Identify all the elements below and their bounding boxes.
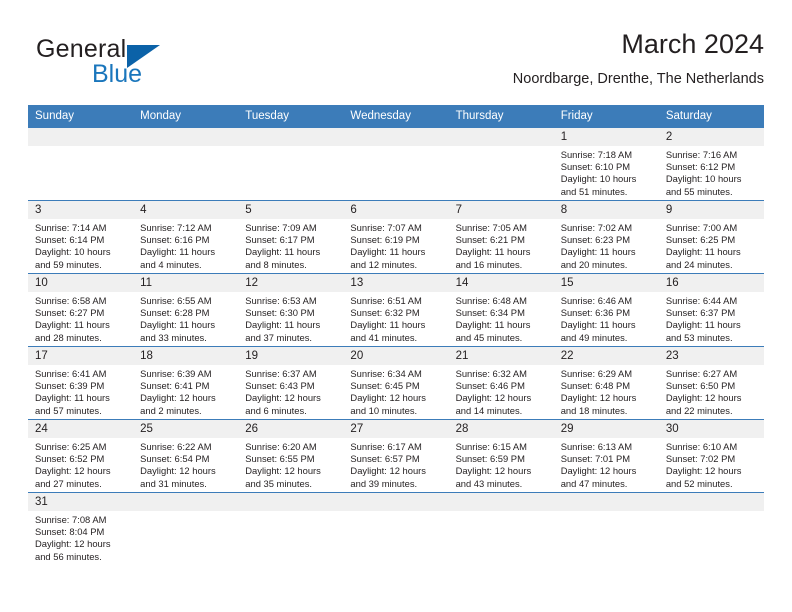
daylight-text-line2: and 35 minutes. bbox=[245, 478, 339, 490]
daylight-text-line1: Daylight: 11 hours bbox=[666, 246, 760, 258]
sunset-text: Sunset: 6:10 PM bbox=[561, 161, 655, 173]
calendar-day-cell[interactable]: 15Sunrise: 6:46 AMSunset: 6:36 PMDayligh… bbox=[554, 274, 659, 347]
sunrise-text: Sunrise: 6:39 AM bbox=[140, 368, 234, 380]
daylight-text-line1: Daylight: 11 hours bbox=[666, 319, 760, 331]
daylight-text-line1: Daylight: 11 hours bbox=[456, 246, 550, 258]
day-details: Sunrise: 6:20 AMSunset: 6:55 PMDaylight:… bbox=[238, 438, 343, 490]
calendar-cell-empty bbox=[133, 493, 238, 566]
calendar-day-cell[interactable]: 31Sunrise: 7:08 AMSunset: 8:04 PMDayligh… bbox=[28, 493, 133, 566]
calendar-day-cell[interactable]: 21Sunrise: 6:32 AMSunset: 6:46 PMDayligh… bbox=[449, 347, 554, 420]
sunrise-text: Sunrise: 6:44 AM bbox=[666, 295, 760, 307]
daylight-text-line2: and 56 minutes. bbox=[35, 551, 129, 563]
daylight-text-line2: and 6 minutes. bbox=[245, 405, 339, 417]
day-number: 19 bbox=[238, 347, 343, 365]
sunset-text: Sunset: 8:04 PM bbox=[35, 526, 129, 538]
sunset-text: Sunset: 6:23 PM bbox=[561, 234, 655, 246]
daylight-text-line1: Daylight: 11 hours bbox=[140, 246, 234, 258]
calendar-week-row: 17Sunrise: 6:41 AMSunset: 6:39 PMDayligh… bbox=[28, 347, 764, 420]
daylight-text-line2: and 41 minutes. bbox=[350, 332, 444, 344]
weekday-header-monday: Monday bbox=[133, 105, 238, 128]
day-details: Sunrise: 7:02 AMSunset: 6:23 PMDaylight:… bbox=[554, 219, 659, 271]
sunset-text: Sunset: 6:55 PM bbox=[245, 453, 339, 465]
sunset-text: Sunset: 6:14 PM bbox=[35, 234, 129, 246]
daylight-text-line1: Daylight: 12 hours bbox=[140, 465, 234, 477]
sunset-text: Sunset: 6:48 PM bbox=[561, 380, 655, 392]
daylight-text-line1: Daylight: 12 hours bbox=[666, 465, 760, 477]
sunrise-text: Sunrise: 6:15 AM bbox=[456, 441, 550, 453]
daylight-text-line2: and 10 minutes. bbox=[350, 405, 444, 417]
calendar-day-cell[interactable]: 12Sunrise: 6:53 AMSunset: 6:30 PMDayligh… bbox=[238, 274, 343, 347]
day-details: Sunrise: 6:48 AMSunset: 6:34 PMDaylight:… bbox=[449, 292, 554, 344]
daylight-text-line2: and 2 minutes. bbox=[140, 405, 234, 417]
daylight-text-line2: and 12 minutes. bbox=[350, 259, 444, 271]
daylight-text-line1: Daylight: 11 hours bbox=[35, 392, 129, 404]
day-details: Sunrise: 6:53 AMSunset: 6:30 PMDaylight:… bbox=[238, 292, 343, 344]
day-number: 7 bbox=[449, 201, 554, 219]
daylight-text-line2: and 43 minutes. bbox=[456, 478, 550, 490]
daylight-text-line2: and 24 minutes. bbox=[666, 259, 760, 271]
daylight-text-line1: Daylight: 12 hours bbox=[35, 465, 129, 477]
day-number: 1 bbox=[554, 128, 659, 146]
calendar-day-cell[interactable]: 25Sunrise: 6:22 AMSunset: 6:54 PMDayligh… bbox=[133, 420, 238, 493]
daylight-text-line2: and 49 minutes. bbox=[561, 332, 655, 344]
weekday-header-tuesday: Tuesday bbox=[238, 105, 343, 128]
logo-text-blue: Blue bbox=[92, 60, 142, 89]
sunset-text: Sunset: 6:17 PM bbox=[245, 234, 339, 246]
day-number bbox=[449, 128, 554, 146]
day-number: 16 bbox=[659, 274, 764, 292]
day-number: 14 bbox=[449, 274, 554, 292]
calendar-day-cell[interactable]: 17Sunrise: 6:41 AMSunset: 6:39 PMDayligh… bbox=[28, 347, 133, 420]
sunset-text: Sunset: 6:21 PM bbox=[456, 234, 550, 246]
page-header: General Blue March 2024 Noordbarge, Dren… bbox=[28, 28, 764, 96]
daylight-text-line1: Daylight: 12 hours bbox=[245, 392, 339, 404]
daylight-text-line1: Daylight: 12 hours bbox=[456, 392, 550, 404]
sunset-text: Sunset: 6:57 PM bbox=[350, 453, 444, 465]
daylight-text-line2: and 4 minutes. bbox=[140, 259, 234, 271]
calendar-day-cell[interactable]: 26Sunrise: 6:20 AMSunset: 6:55 PMDayligh… bbox=[238, 420, 343, 493]
weekday-header-wednesday: Wednesday bbox=[343, 105, 448, 128]
day-number: 3 bbox=[28, 201, 133, 219]
daylight-text-line1: Daylight: 12 hours bbox=[561, 465, 655, 477]
sunrise-text: Sunrise: 6:34 AM bbox=[350, 368, 444, 380]
calendar-cell-empty bbox=[449, 128, 554, 201]
calendar-day-cell[interactable]: 1Sunrise: 7:18 AMSunset: 6:10 PMDaylight… bbox=[554, 128, 659, 201]
sunset-text: Sunset: 6:39 PM bbox=[35, 380, 129, 392]
day-number bbox=[133, 493, 238, 511]
day-number bbox=[449, 493, 554, 511]
sunrise-text: Sunrise: 6:58 AM bbox=[35, 295, 129, 307]
day-details: Sunrise: 7:07 AMSunset: 6:19 PMDaylight:… bbox=[343, 219, 448, 271]
sunrise-text: Sunrise: 6:13 AM bbox=[561, 441, 655, 453]
day-details: Sunrise: 6:37 AMSunset: 6:43 PMDaylight:… bbox=[238, 365, 343, 417]
daylight-text-line2: and 18 minutes. bbox=[561, 405, 655, 417]
calendar-cell-empty bbox=[238, 128, 343, 201]
day-number: 4 bbox=[133, 201, 238, 219]
day-details: Sunrise: 6:29 AMSunset: 6:48 PMDaylight:… bbox=[554, 365, 659, 417]
calendar-cell-empty bbox=[238, 493, 343, 566]
sunrise-text: Sunrise: 6:20 AM bbox=[245, 441, 339, 453]
day-number: 11 bbox=[133, 274, 238, 292]
calendar-day-cell[interactable]: 11Sunrise: 6:55 AMSunset: 6:28 PMDayligh… bbox=[133, 274, 238, 347]
calendar-day-cell[interactable]: 29Sunrise: 6:13 AMSunset: 7:01 PMDayligh… bbox=[554, 420, 659, 493]
calendar-day-cell[interactable]: 23Sunrise: 6:27 AMSunset: 6:50 PMDayligh… bbox=[659, 347, 764, 420]
sunset-text: Sunset: 6:25 PM bbox=[666, 234, 760, 246]
day-details: Sunrise: 6:51 AMSunset: 6:32 PMDaylight:… bbox=[343, 292, 448, 344]
day-details: Sunrise: 7:16 AMSunset: 6:12 PMDaylight:… bbox=[659, 146, 764, 198]
sunrise-text: Sunrise: 6:25 AM bbox=[35, 441, 129, 453]
sunset-text: Sunset: 6:19 PM bbox=[350, 234, 444, 246]
day-number: 2 bbox=[659, 128, 764, 146]
daylight-text-line2: and 14 minutes. bbox=[456, 405, 550, 417]
daylight-text-line1: Daylight: 11 hours bbox=[456, 319, 550, 331]
calendar-day-cell[interactable]: 19Sunrise: 6:37 AMSunset: 6:43 PMDayligh… bbox=[238, 347, 343, 420]
sunrise-text: Sunrise: 6:48 AM bbox=[456, 295, 550, 307]
daylight-text-line2: and 39 minutes. bbox=[350, 478, 444, 490]
sunset-text: Sunset: 6:34 PM bbox=[456, 307, 550, 319]
day-details: Sunrise: 7:09 AMSunset: 6:17 PMDaylight:… bbox=[238, 219, 343, 271]
calendar-day-cell[interactable]: 27Sunrise: 6:17 AMSunset: 6:57 PMDayligh… bbox=[343, 420, 448, 493]
calendar-day-cell[interactable]: 2Sunrise: 7:16 AMSunset: 6:12 PMDaylight… bbox=[659, 128, 764, 201]
day-details: Sunrise: 6:58 AMSunset: 6:27 PMDaylight:… bbox=[28, 292, 133, 344]
day-number: 8 bbox=[554, 201, 659, 219]
day-number: 25 bbox=[133, 420, 238, 438]
sunrise-text: Sunrise: 6:55 AM bbox=[140, 295, 234, 307]
title-block: March 2024 Noordbarge, Drenthe, The Neth… bbox=[513, 28, 764, 90]
day-details: Sunrise: 6:17 AMSunset: 6:57 PMDaylight:… bbox=[343, 438, 448, 490]
day-details: Sunrise: 6:25 AMSunset: 6:52 PMDaylight:… bbox=[28, 438, 133, 490]
day-details: Sunrise: 7:05 AMSunset: 6:21 PMDaylight:… bbox=[449, 219, 554, 271]
day-details: Sunrise: 7:00 AMSunset: 6:25 PMDaylight:… bbox=[659, 219, 764, 271]
sunrise-text: Sunrise: 7:08 AM bbox=[35, 514, 129, 526]
daylight-text-line1: Daylight: 11 hours bbox=[350, 319, 444, 331]
general-blue-logo[interactable]: General Blue bbox=[36, 35, 236, 93]
sunrise-text: Sunrise: 6:32 AM bbox=[456, 368, 550, 380]
sunset-text: Sunset: 6:27 PM bbox=[35, 307, 129, 319]
calendar-week-row: 3Sunrise: 7:14 AMSunset: 6:14 PMDaylight… bbox=[28, 201, 764, 274]
day-number: 12 bbox=[238, 274, 343, 292]
daylight-text-line1: Daylight: 12 hours bbox=[350, 392, 444, 404]
daylight-text-line2: and 33 minutes. bbox=[140, 332, 234, 344]
sunset-text: Sunset: 6:54 PM bbox=[140, 453, 234, 465]
day-number: 28 bbox=[449, 420, 554, 438]
daylight-text-line1: Daylight: 12 hours bbox=[35, 538, 129, 550]
weekday-header-thursday: Thursday bbox=[449, 105, 554, 128]
daylight-text-line2: and 20 minutes. bbox=[561, 259, 655, 271]
calendar-day-cell[interactable]: 20Sunrise: 6:34 AMSunset: 6:45 PMDayligh… bbox=[343, 347, 448, 420]
daylight-text-line1: Daylight: 11 hours bbox=[561, 246, 655, 258]
sunrise-text: Sunrise: 7:07 AM bbox=[350, 222, 444, 234]
daylight-text-line2: and 37 minutes. bbox=[245, 332, 339, 344]
daylight-text-line1: Daylight: 11 hours bbox=[140, 319, 234, 331]
sunrise-text: Sunrise: 6:46 AM bbox=[561, 295, 655, 307]
weekday-header-sunday: Sunday bbox=[28, 105, 133, 128]
sunrise-text: Sunrise: 7:09 AM bbox=[245, 222, 339, 234]
sunset-text: Sunset: 7:01 PM bbox=[561, 453, 655, 465]
calendar-cell-empty bbox=[343, 128, 448, 201]
day-number: 5 bbox=[238, 201, 343, 219]
sunset-text: Sunset: 6:59 PM bbox=[456, 453, 550, 465]
daylight-text-line2: and 27 minutes. bbox=[35, 478, 129, 490]
sunrise-text: Sunrise: 6:27 AM bbox=[666, 368, 760, 380]
day-number: 27 bbox=[343, 420, 448, 438]
day-number: 10 bbox=[28, 274, 133, 292]
day-number bbox=[133, 128, 238, 146]
sunset-text: Sunset: 6:28 PM bbox=[140, 307, 234, 319]
daylight-text-line2: and 31 minutes. bbox=[140, 478, 234, 490]
daylight-text-line1: Daylight: 11 hours bbox=[35, 319, 129, 331]
sunset-text: Sunset: 6:16 PM bbox=[140, 234, 234, 246]
calendar-week-row: 1Sunrise: 7:18 AMSunset: 6:10 PMDaylight… bbox=[28, 128, 764, 201]
sunrise-text: Sunrise: 6:22 AM bbox=[140, 441, 234, 453]
calendar-day-cell[interactable]: 7Sunrise: 7:05 AMSunset: 6:21 PMDaylight… bbox=[449, 201, 554, 274]
daylight-text-line2: and 16 minutes. bbox=[456, 259, 550, 271]
day-number bbox=[343, 128, 448, 146]
day-number: 21 bbox=[449, 347, 554, 365]
day-details: Sunrise: 6:22 AMSunset: 6:54 PMDaylight:… bbox=[133, 438, 238, 490]
calendar-day-cell[interactable]: 14Sunrise: 6:48 AMSunset: 6:34 PMDayligh… bbox=[449, 274, 554, 347]
daylight-text-line1: Daylight: 11 hours bbox=[561, 319, 655, 331]
daylight-text-line1: Daylight: 12 hours bbox=[666, 392, 760, 404]
daylight-text-line2: and 51 minutes. bbox=[561, 186, 655, 198]
sunrise-text: Sunrise: 7:14 AM bbox=[35, 222, 129, 234]
daylight-text-line2: and 45 minutes. bbox=[456, 332, 550, 344]
daylight-text-line1: Daylight: 10 hours bbox=[561, 173, 655, 185]
sunset-text: Sunset: 6:46 PM bbox=[456, 380, 550, 392]
weekday-header-saturday: Saturday bbox=[659, 105, 764, 128]
daylight-text-line1: Daylight: 12 hours bbox=[561, 392, 655, 404]
day-number bbox=[28, 128, 133, 146]
daylight-text-line2: and 47 minutes. bbox=[561, 478, 655, 490]
sunrise-text: Sunrise: 6:17 AM bbox=[350, 441, 444, 453]
day-details: Sunrise: 6:10 AMSunset: 7:02 PMDaylight:… bbox=[659, 438, 764, 490]
calendar-day-cell[interactable]: 28Sunrise: 6:15 AMSunset: 6:59 PMDayligh… bbox=[449, 420, 554, 493]
sunrise-text: Sunrise: 7:12 AM bbox=[140, 222, 234, 234]
sunrise-text: Sunrise: 6:29 AM bbox=[561, 368, 655, 380]
sunrise-text: Sunrise: 6:10 AM bbox=[666, 441, 760, 453]
sunset-text: Sunset: 6:30 PM bbox=[245, 307, 339, 319]
sunrise-text: Sunrise: 7:02 AM bbox=[561, 222, 655, 234]
calendar-day-cell[interactable]: 5Sunrise: 7:09 AMSunset: 6:17 PMDaylight… bbox=[238, 201, 343, 274]
calendar-cell-empty bbox=[554, 493, 659, 566]
sunset-text: Sunset: 7:02 PM bbox=[666, 453, 760, 465]
day-number: 18 bbox=[133, 347, 238, 365]
sunset-text: Sunset: 6:12 PM bbox=[666, 161, 760, 173]
sunrise-text: Sunrise: 7:16 AM bbox=[666, 149, 760, 161]
sunrise-text: Sunrise: 6:51 AM bbox=[350, 295, 444, 307]
day-number bbox=[238, 128, 343, 146]
calendar-week-row: 31Sunrise: 7:08 AMSunset: 8:04 PMDayligh… bbox=[28, 493, 764, 566]
day-number: 23 bbox=[659, 347, 764, 365]
sunset-text: Sunset: 6:37 PM bbox=[666, 307, 760, 319]
calendar-cell-empty bbox=[133, 128, 238, 201]
sunrise-text: Sunrise: 6:41 AM bbox=[35, 368, 129, 380]
day-details: Sunrise: 6:15 AMSunset: 6:59 PMDaylight:… bbox=[449, 438, 554, 490]
calendar-day-cell[interactable]: 4Sunrise: 7:12 AMSunset: 6:16 PMDaylight… bbox=[133, 201, 238, 274]
daylight-text-line2: and 55 minutes. bbox=[666, 186, 760, 198]
daylight-text-line2: and 22 minutes. bbox=[666, 405, 760, 417]
daylight-text-line1: Daylight: 10 hours bbox=[35, 246, 129, 258]
calendar-cell-empty bbox=[659, 493, 764, 566]
daylight-text-line2: and 57 minutes. bbox=[35, 405, 129, 417]
sunrise-text: Sunrise: 7:05 AM bbox=[456, 222, 550, 234]
day-details: Sunrise: 6:27 AMSunset: 6:50 PMDaylight:… bbox=[659, 365, 764, 417]
calendar-page: General Blue March 2024 Noordbarge, Dren… bbox=[0, 0, 792, 612]
weekday-header-row: Sunday Monday Tuesday Wednesday Thursday… bbox=[28, 105, 764, 128]
sunset-text: Sunset: 6:32 PM bbox=[350, 307, 444, 319]
day-number: 30 bbox=[659, 420, 764, 438]
day-details: Sunrise: 6:55 AMSunset: 6:28 PMDaylight:… bbox=[133, 292, 238, 344]
daylight-text-line2: and 53 minutes. bbox=[666, 332, 760, 344]
sunset-text: Sunset: 6:50 PM bbox=[666, 380, 760, 392]
day-details: Sunrise: 6:46 AMSunset: 6:36 PMDaylight:… bbox=[554, 292, 659, 344]
day-details: Sunrise: 6:44 AMSunset: 6:37 PMDaylight:… bbox=[659, 292, 764, 344]
day-details: Sunrise: 6:32 AMSunset: 6:46 PMDaylight:… bbox=[449, 365, 554, 417]
daylight-text-line1: Daylight: 11 hours bbox=[245, 246, 339, 258]
weekday-header-friday: Friday bbox=[554, 105, 659, 128]
day-details: Sunrise: 6:39 AMSunset: 6:41 PMDaylight:… bbox=[133, 365, 238, 417]
day-details: Sunrise: 6:34 AMSunset: 6:45 PMDaylight:… bbox=[343, 365, 448, 417]
sunrise-text: Sunrise: 7:00 AM bbox=[666, 222, 760, 234]
daylight-text-line2: and 28 minutes. bbox=[35, 332, 129, 344]
sunrise-text: Sunrise: 7:18 AM bbox=[561, 149, 655, 161]
calendar-day-cell[interactable]: 9Sunrise: 7:00 AMSunset: 6:25 PMDaylight… bbox=[659, 201, 764, 274]
calendar-day-cell[interactable]: 18Sunrise: 6:39 AMSunset: 6:41 PMDayligh… bbox=[133, 347, 238, 420]
calendar-day-cell[interactable]: 3Sunrise: 7:14 AMSunset: 6:14 PMDaylight… bbox=[28, 201, 133, 274]
sunset-text: Sunset: 6:36 PM bbox=[561, 307, 655, 319]
daylight-text-line2: and 59 minutes. bbox=[35, 259, 129, 271]
day-number: 31 bbox=[28, 493, 133, 511]
daylight-text-line2: and 8 minutes. bbox=[245, 259, 339, 271]
day-number: 15 bbox=[554, 274, 659, 292]
daylight-text-line1: Daylight: 11 hours bbox=[350, 246, 444, 258]
page-title: March 2024 bbox=[513, 28, 764, 60]
day-number bbox=[238, 493, 343, 511]
calendar-day-cell[interactable]: 13Sunrise: 6:51 AMSunset: 6:32 PMDayligh… bbox=[343, 274, 448, 347]
calendar-cell-empty bbox=[28, 128, 133, 201]
daylight-text-line1: Daylight: 12 hours bbox=[245, 465, 339, 477]
day-number: 22 bbox=[554, 347, 659, 365]
calendar-week-row: 10Sunrise: 6:58 AMSunset: 6:27 PMDayligh… bbox=[28, 274, 764, 347]
sunset-text: Sunset: 6:43 PM bbox=[245, 380, 339, 392]
daylight-text-line2: and 52 minutes. bbox=[666, 478, 760, 490]
calendar-cell-empty bbox=[343, 493, 448, 566]
day-number: 9 bbox=[659, 201, 764, 219]
day-details: Sunrise: 7:08 AMSunset: 8:04 PMDaylight:… bbox=[28, 511, 133, 563]
daylight-text-line1: Daylight: 12 hours bbox=[456, 465, 550, 477]
day-number: 17 bbox=[28, 347, 133, 365]
day-number bbox=[659, 493, 764, 511]
daylight-text-line1: Daylight: 10 hours bbox=[666, 173, 760, 185]
day-number bbox=[554, 493, 659, 511]
sunset-text: Sunset: 6:45 PM bbox=[350, 380, 444, 392]
day-number bbox=[343, 493, 448, 511]
calendar-day-cell[interactable]: 10Sunrise: 6:58 AMSunset: 6:27 PMDayligh… bbox=[28, 274, 133, 347]
daylight-text-line1: Daylight: 12 hours bbox=[350, 465, 444, 477]
day-number: 13 bbox=[343, 274, 448, 292]
calendar-table: Sunday Monday Tuesday Wednesday Thursday… bbox=[28, 105, 764, 566]
day-details: Sunrise: 7:12 AMSunset: 6:16 PMDaylight:… bbox=[133, 219, 238, 271]
day-details: Sunrise: 7:18 AMSunset: 6:10 PMDaylight:… bbox=[554, 146, 659, 198]
calendar-day-cell[interactable]: 30Sunrise: 6:10 AMSunset: 7:02 PMDayligh… bbox=[659, 420, 764, 493]
day-details: Sunrise: 7:14 AMSunset: 6:14 PMDaylight:… bbox=[28, 219, 133, 271]
sunset-text: Sunset: 6:41 PM bbox=[140, 380, 234, 392]
calendar-day-cell[interactable]: 24Sunrise: 6:25 AMSunset: 6:52 PMDayligh… bbox=[28, 420, 133, 493]
calendar-body: 1Sunrise: 7:18 AMSunset: 6:10 PMDaylight… bbox=[28, 128, 764, 566]
day-number: 24 bbox=[28, 420, 133, 438]
calendar-day-cell[interactable]: 6Sunrise: 7:07 AMSunset: 6:19 PMDaylight… bbox=[343, 201, 448, 274]
day-details: Sunrise: 6:13 AMSunset: 7:01 PMDaylight:… bbox=[554, 438, 659, 490]
location-subtitle: Noordbarge, Drenthe, The Netherlands bbox=[513, 68, 764, 90]
daylight-text-line1: Daylight: 11 hours bbox=[245, 319, 339, 331]
calendar-cell-empty bbox=[449, 493, 554, 566]
calendar-day-cell[interactable]: 8Sunrise: 7:02 AMSunset: 6:23 PMDaylight… bbox=[554, 201, 659, 274]
day-number: 6 bbox=[343, 201, 448, 219]
calendar-week-row: 24Sunrise: 6:25 AMSunset: 6:52 PMDayligh… bbox=[28, 420, 764, 493]
day-number: 26 bbox=[238, 420, 343, 438]
day-number: 20 bbox=[343, 347, 448, 365]
sunrise-text: Sunrise: 6:37 AM bbox=[245, 368, 339, 380]
day-details: Sunrise: 6:41 AMSunset: 6:39 PMDaylight:… bbox=[28, 365, 133, 417]
day-number: 29 bbox=[554, 420, 659, 438]
calendar-day-cell[interactable]: 22Sunrise: 6:29 AMSunset: 6:48 PMDayligh… bbox=[554, 347, 659, 420]
daylight-text-line1: Daylight: 12 hours bbox=[140, 392, 234, 404]
sunset-text: Sunset: 6:52 PM bbox=[35, 453, 129, 465]
sunrise-text: Sunrise: 6:53 AM bbox=[245, 295, 339, 307]
calendar-day-cell[interactable]: 16Sunrise: 6:44 AMSunset: 6:37 PMDayligh… bbox=[659, 274, 764, 347]
